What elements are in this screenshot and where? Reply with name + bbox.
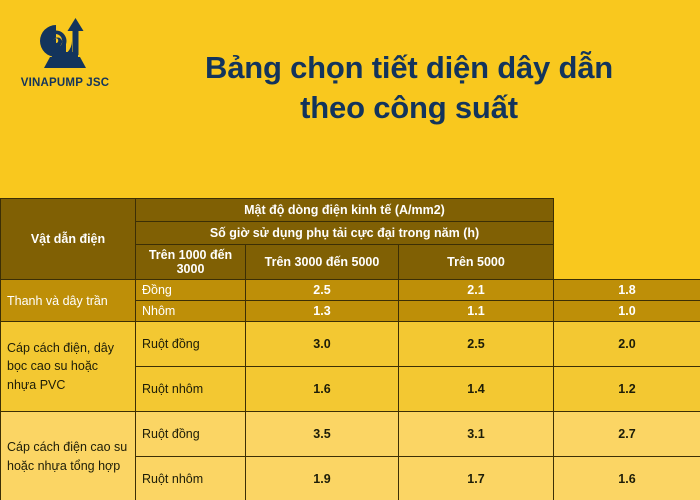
conductor-current-density-table: Vật dẫn điện Mật độ dòng điện kinh tế (A…: [0, 198, 700, 500]
value-2-1-0: 1.9: [246, 457, 399, 500]
value-0-1-2: 1.0: [554, 301, 700, 322]
page-title: Bảng chọn tiết diện dây dẫn theo công su…: [130, 0, 700, 127]
header-hours-cell: Số giờ sử dụng phụ tải cực đại trong năm…: [136, 222, 554, 245]
value-1-1-0: 1.6: [246, 367, 399, 412]
brand-logo-text: VINAPUMP JSC: [21, 77, 109, 89]
value-1-1-1: 1.4: [399, 367, 554, 412]
value-0-1-1: 1.1: [399, 301, 554, 322]
group-label-2: Cáp cách điện cao su hoặc nhựa tổng hợp: [1, 412, 136, 500]
value-0-0-0: 2.5: [246, 280, 399, 301]
value-1-1-2: 1.2: [554, 367, 700, 412]
page-title-line-1: Bảng chọn tiết diện dây dẫn: [130, 48, 688, 88]
group-label-0: Thanh và dây trần: [1, 280, 136, 322]
header-col-1: Trên 1000 đến 3000: [136, 245, 246, 280]
value-2-0-0: 3.5: [246, 412, 399, 457]
value-2-1-1: 1.7: [399, 457, 554, 500]
conductor-2-0: Ruột đồng: [136, 412, 246, 457]
poster-root: VINAPUMP JSC Bảng chọn tiết diện dây dẫn…: [0, 0, 700, 500]
page-title-line-2: theo công suất: [130, 88, 688, 128]
value-1-0-0: 3.0: [246, 322, 399, 367]
pump-impeller-arrow-icon: [30, 16, 100, 74]
value-1-0-1: 2.5: [399, 322, 554, 367]
table-row: Thanh và dây trần Đồng 2.5 2.1 1.8: [1, 280, 700, 301]
value-2-1-2: 1.6: [554, 457, 700, 500]
brand-logo: VINAPUMP JSC: [0, 0, 130, 89]
conductor-1-0: Ruột đồng: [136, 322, 246, 367]
header-col-3: Trên 5000: [399, 245, 554, 280]
header-current-density-cell: Mật độ dòng điện kinh tế (A/mm2): [136, 199, 554, 222]
poster-header: VINAPUMP JSC Bảng chọn tiết diện dây dẫn…: [0, 0, 700, 198]
value-0-1-0: 1.3: [246, 301, 399, 322]
table-row: Cáp cách điện cao su hoặc nhựa tổng hợp …: [1, 412, 700, 457]
value-2-0-1: 3.1: [399, 412, 554, 457]
conductor-0-1: Nhôm: [136, 301, 246, 322]
group-label-1: Cáp cách điện, dây bọc cao su hoặc nhựa …: [1, 322, 136, 412]
spec-table-container: Vật dẫn điện Mật độ dòng điện kinh tế (A…: [0, 198, 700, 500]
table-header-row-1: Vật dẫn điện Mật độ dòng điện kinh tế (A…: [1, 199, 700, 222]
conductor-1-1: Ruột nhôm: [136, 367, 246, 412]
value-2-0-2: 2.7: [554, 412, 700, 457]
table-row: Cáp cách điện, dây bọc cao su hoặc nhựa …: [1, 322, 700, 367]
value-0-0-1: 2.1: [399, 280, 554, 301]
conductor-2-1: Ruột nhôm: [136, 457, 246, 500]
header-material-cell: Vật dẫn điện: [1, 199, 136, 280]
value-1-0-2: 2.0: [554, 322, 700, 367]
header-col-2: Trên 3000 đến 5000: [246, 245, 399, 280]
conductor-0-0: Đồng: [136, 280, 246, 301]
value-0-0-2: 1.8: [554, 280, 700, 301]
